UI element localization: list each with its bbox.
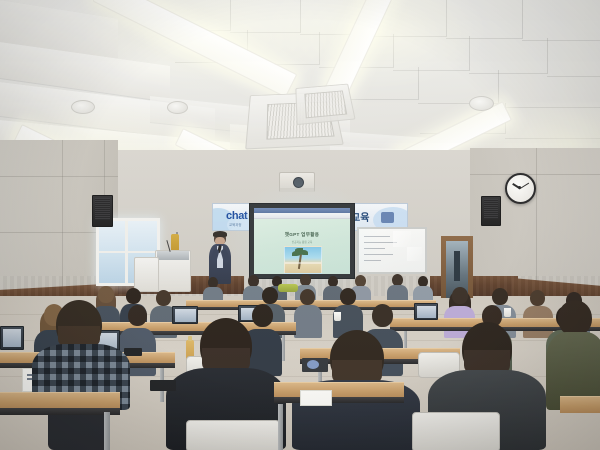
slide-subtitle: 인공지능 활용 교육 (254, 240, 350, 244)
speaker-left (92, 195, 113, 227)
ceiling-sensor (469, 96, 494, 111)
chair (186, 420, 280, 450)
speaker-right (481, 196, 501, 226)
attendee-foreground-left (30, 300, 140, 450)
ac-vent (295, 84, 355, 125)
attendee-far-right (546, 300, 600, 410)
desk (560, 396, 600, 413)
smartphone (150, 380, 176, 391)
chair-seat (278, 284, 298, 292)
handout (300, 390, 332, 406)
wall-clock (505, 173, 536, 204)
ceiling-sensor (167, 101, 188, 114)
slide-title: 챗GPT 업무활용 (254, 232, 350, 238)
slide-app-ribbon (254, 213, 350, 219)
classroom-photo: chat 교육과정 교육 챗GPT 업무활용 인공지능 활용 교육 (0, 0, 600, 450)
desk (274, 382, 404, 398)
chair (412, 412, 500, 450)
laptop (0, 326, 24, 350)
desk (0, 392, 120, 409)
ceiling-sensor (71, 100, 95, 114)
